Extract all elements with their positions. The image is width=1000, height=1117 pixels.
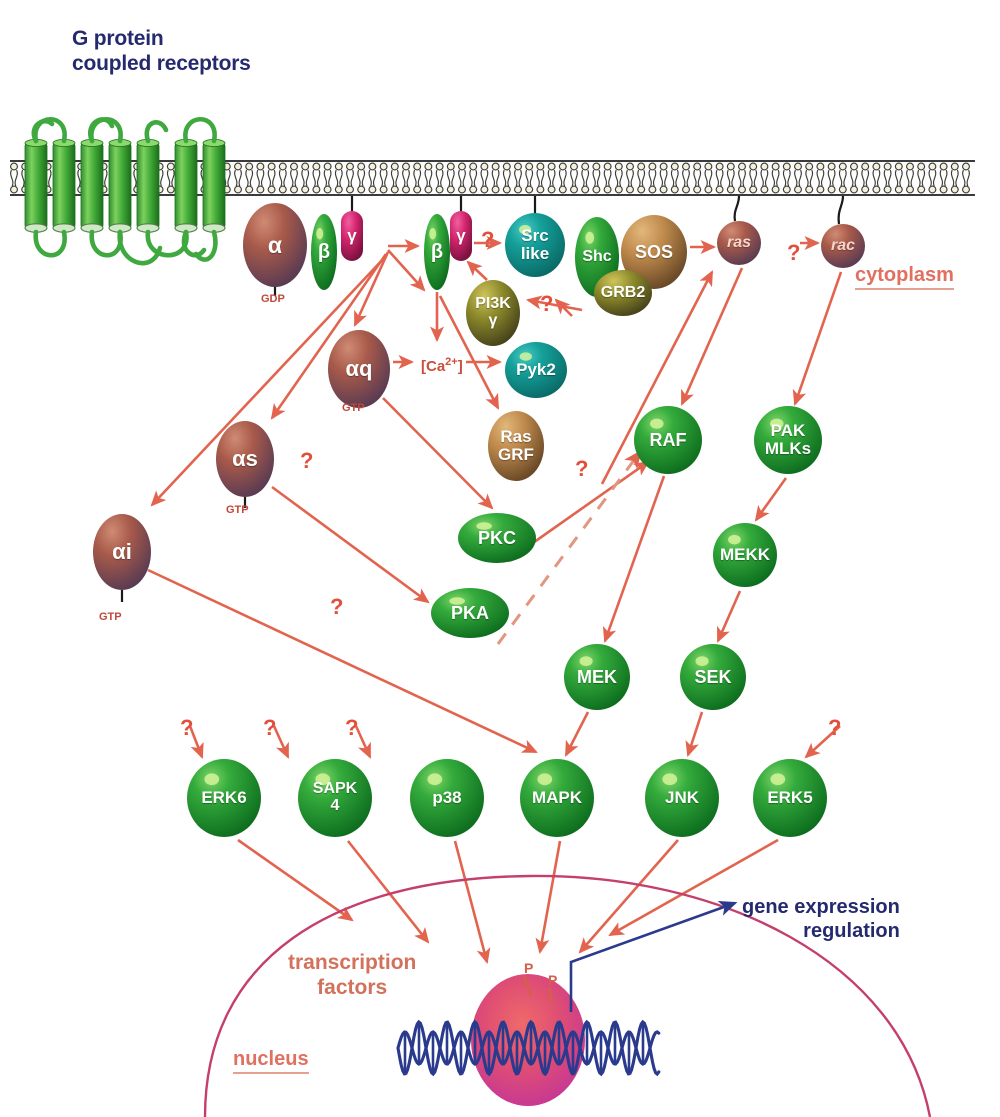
compartment-label-cytoplasm: cytoplasm	[855, 264, 954, 290]
gene-expression-pointer	[571, 903, 735, 1012]
qmark-alpha-i: ?	[330, 594, 343, 620]
nucleus-layer	[0, 0, 1000, 1117]
calcium-concentration: [Ca2+]	[421, 356, 463, 375]
gtp-label-alpha-q: GTP	[342, 402, 365, 414]
qmark-pi3k-shc: ?	[540, 291, 553, 317]
qmark-pkc-raf: ?	[575, 456, 588, 482]
qmark-alpha-s: ?	[300, 448, 313, 474]
page-title: G protein coupled receptors	[72, 26, 251, 76]
phosphate-marker-1: P	[524, 960, 533, 976]
gene-expression-regulation: gene expression regulation	[742, 895, 900, 943]
compartment-label-nucleus: nucleus	[233, 1048, 309, 1074]
gtp-label-alpha-s: GTP	[226, 504, 249, 516]
qmark-erk6: ?	[180, 715, 193, 741]
qmark-erk5: ?	[828, 715, 841, 741]
gtp-label-alpha-i: GTP	[99, 611, 122, 623]
qmark-p38: ?	[345, 715, 358, 741]
qmark-ras-rac: ?	[787, 240, 800, 266]
gdp-label-alpha: GDP	[261, 293, 285, 305]
transcription-factors: transcription factors	[288, 950, 416, 1000]
qmark-sapk4: ?	[263, 715, 276, 741]
phosphate-marker-2: P	[548, 972, 557, 988]
signaling-pathway-diagram: G protein coupled receptors αβγβγSrc lik…	[0, 0, 1000, 1117]
qmark-betagamma-src: ?	[481, 227, 494, 253]
